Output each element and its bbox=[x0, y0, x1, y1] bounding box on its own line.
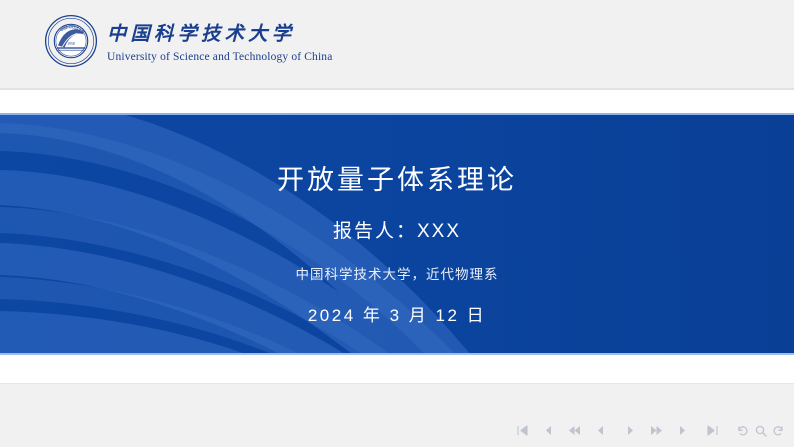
rotate-left-icon[interactable] bbox=[735, 423, 750, 438]
logo-cn-name: 中国科学技术大学 bbox=[107, 19, 321, 49]
header-band: 1958 中 国 科 学 技 术 大 学 中国科学技术大学 University… bbox=[0, 0, 794, 88]
magnifier-icon[interactable] bbox=[753, 423, 768, 438]
last-page-icon[interactable] bbox=[705, 423, 720, 438]
page-forward-icon[interactable] bbox=[623, 423, 638, 438]
slide-bottom-edge bbox=[0, 353, 794, 355]
rotate-right-icon[interactable] bbox=[771, 423, 786, 438]
logo-en-name: University of Science and Technology of … bbox=[107, 50, 332, 64]
university-logo: 1958 中 国 科 学 技 术 大 学 中国科学技术大学 University… bbox=[44, 14, 332, 68]
prev-page-icon[interactable] bbox=[567, 423, 582, 438]
first-page-icon[interactable] bbox=[515, 423, 530, 438]
step-forward-icon[interactable] bbox=[675, 423, 690, 438]
usct-seal-icon: 1958 中 国 科 学 技 术 大 学 bbox=[44, 14, 98, 68]
svg-text:1958: 1958 bbox=[67, 42, 75, 46]
step-back-icon[interactable] bbox=[541, 423, 556, 438]
viewer-toolbar[interactable] bbox=[515, 423, 786, 438]
slide-arc-decoration bbox=[0, 115, 794, 354]
page-back-icon[interactable] bbox=[593, 423, 608, 438]
document-viewer: 1958 中 国 科 学 技 术 大 学 中国科学技术大学 University… bbox=[0, 0, 794, 447]
next-page-icon[interactable] bbox=[649, 423, 664, 438]
logo-text-block: 中国科学技术大学 University of Science and Techn… bbox=[107, 19, 332, 64]
title-slide: 开放量子体系理论 报告人：XXX 中国科学技术大学，近代物理系 2024 年 3… bbox=[0, 115, 794, 354]
logo-cn-text: 中国科学技术大学 bbox=[107, 22, 295, 44]
